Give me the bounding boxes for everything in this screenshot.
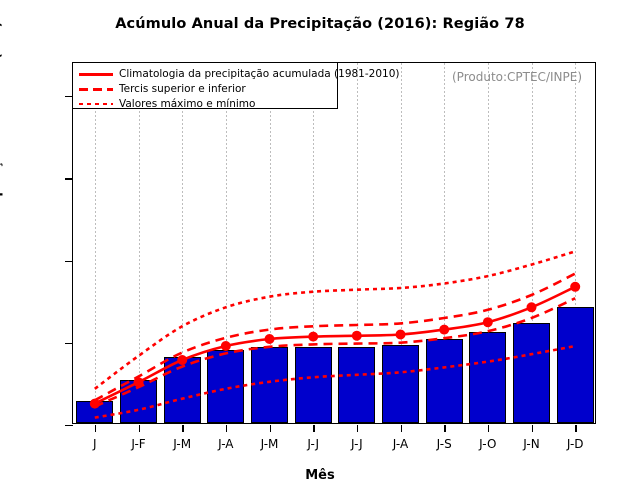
y-tick	[65, 343, 73, 344]
x-tick	[139, 425, 140, 432]
page-title: Acúmulo Anual da Precipitação (2016): Re…	[0, 16, 640, 32]
x-tick-label: J	[93, 437, 97, 451]
legend-label: Climatologia da precipitação acumulada (…	[119, 68, 399, 80]
legend: Climatologia da precipitação acumulada (…	[72, 62, 338, 109]
plot-area: JJ-FJ-MJ-AJ-MJ-JJ-JJ-AJ-SJ-OJ-NJ-D	[72, 62, 596, 424]
x-tick-label: J-F	[131, 437, 145, 451]
curve-line-dashed	[95, 298, 575, 406]
x-tick	[182, 425, 183, 432]
climatology-marker	[483, 317, 493, 327]
x-tick-label: J-J	[307, 437, 319, 451]
solid-line-icon	[79, 68, 113, 80]
legend-item: Climatologia da precipitação acumulada (…	[79, 67, 332, 81]
x-tick-label: J-S	[437, 437, 452, 451]
x-tick-label: J-J	[351, 437, 363, 451]
x-tick	[575, 425, 576, 432]
climatology-marker	[221, 341, 231, 351]
legend-item: Valores máximo e mínimo	[79, 97, 332, 111]
x-tick	[357, 425, 358, 432]
x-tick	[532, 425, 533, 432]
x-tick	[95, 425, 96, 432]
product-note: (Produto:CPTEC/INPE)	[452, 70, 582, 84]
y-tick	[65, 178, 73, 179]
legend-item: Tercis superior e inferior	[79, 82, 332, 96]
dotted-line-icon	[79, 98, 113, 110]
x-tick-label: J-A	[218, 437, 233, 451]
legend-label: Tercis superior e inferior	[119, 83, 246, 95]
y-tick	[65, 425, 73, 426]
climatology-marker	[570, 282, 580, 292]
x-tick-label: J-M	[261, 437, 279, 451]
x-tick	[401, 425, 402, 432]
x-axis-title: Mês	[0, 468, 640, 483]
x-tick-label: J-M	[173, 437, 191, 451]
climatology-curves	[73, 63, 595, 423]
curve-line-dotted	[95, 346, 575, 418]
climatology-marker	[396, 330, 406, 340]
climatology-marker	[352, 331, 362, 341]
y-axis-title: Precipitação acumulada (mm)	[0, 21, 3, 232]
x-tick	[488, 425, 489, 432]
legend-label: Valores máximo e mínimo	[119, 98, 255, 110]
climatology-marker	[527, 302, 537, 312]
climatology-marker	[265, 334, 275, 344]
climatology-marker	[308, 332, 318, 342]
x-tick	[270, 425, 271, 432]
y-tick	[65, 261, 73, 262]
x-tick	[226, 425, 227, 432]
x-tick	[313, 425, 314, 432]
x-tick-label: J-N	[523, 437, 539, 451]
x-tick-label: J-O	[479, 437, 496, 451]
plot-inner	[73, 63, 595, 423]
x-tick-label: J-D	[567, 437, 584, 451]
x-tick	[444, 425, 445, 432]
dashed-line-icon	[79, 83, 113, 95]
chart-page: Acúmulo Anual da Precipitação (2016): Re…	[0, 0, 640, 500]
climatology-marker	[177, 355, 187, 365]
climatology-marker	[439, 325, 449, 335]
x-tick-label: J-A	[393, 437, 408, 451]
